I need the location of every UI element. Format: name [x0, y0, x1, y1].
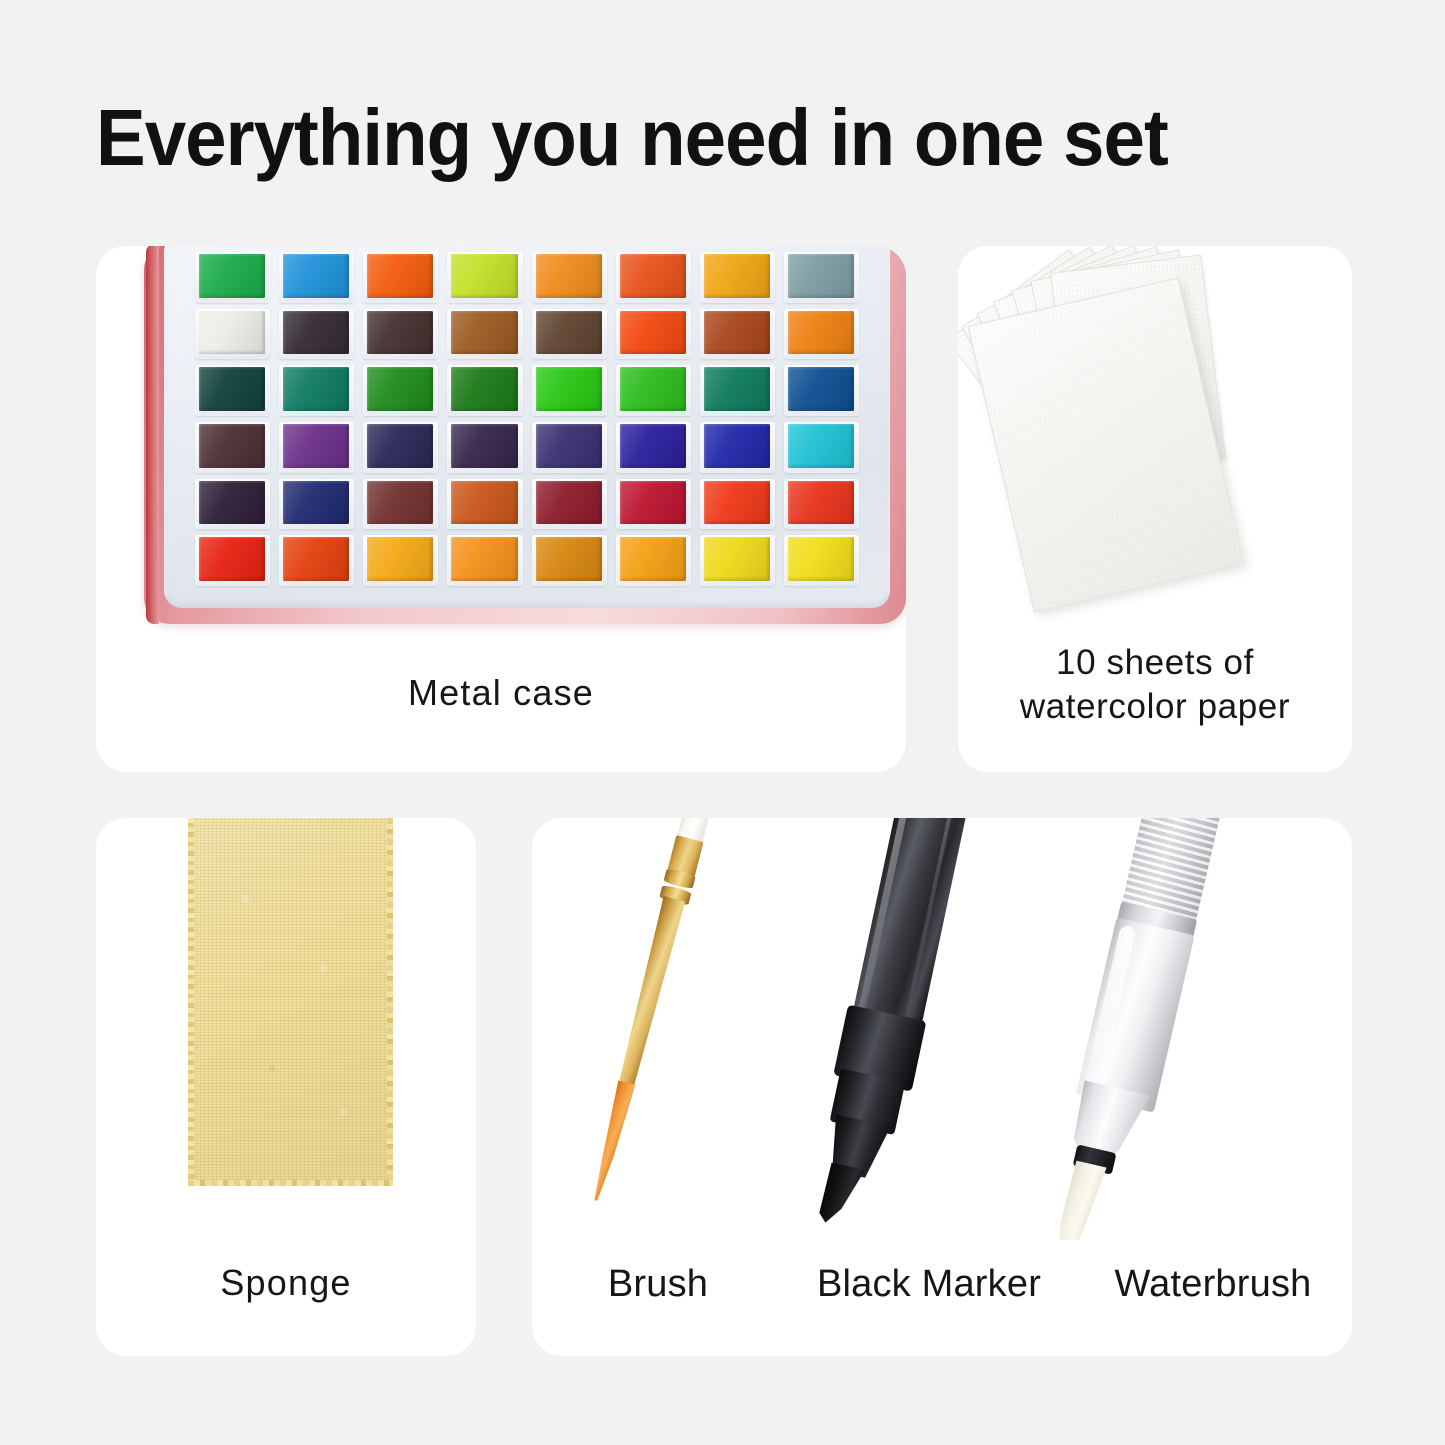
paint-pan: [363, 422, 438, 473]
paint-pan-color: [283, 254, 349, 298]
paint-pan: [279, 479, 354, 530]
paint-pan: [700, 422, 775, 473]
paint-pan: [279, 252, 354, 303]
paint-pan: [700, 252, 775, 303]
sponge-bottom-edge: [188, 1180, 393, 1186]
paint-pan: [363, 252, 438, 303]
marker-tip: [814, 1161, 866, 1228]
paint-pan-color: [620, 367, 686, 411]
paint-pan-color: [788, 367, 854, 411]
paint-pan-color: [788, 311, 854, 355]
paint-pan: [195, 365, 270, 416]
sponge-left-edge: [188, 818, 194, 1186]
brush-image: [574, 818, 724, 1208]
paint-pan-color: [788, 481, 854, 525]
paint-pan-color: [788, 254, 854, 298]
paint-pan-color: [536, 537, 602, 581]
paint-pan-color: [704, 367, 770, 411]
paint-pan-color: [283, 311, 349, 355]
paint-pan: [784, 422, 859, 473]
paint-pan-color: [367, 424, 433, 468]
paint-pan-color: [367, 481, 433, 525]
paint-pan: [279, 422, 354, 473]
paint-pan: [616, 365, 691, 416]
paint-pan-color: [620, 424, 686, 468]
card-label-line-1: 10 sheets of: [958, 641, 1352, 684]
paint-pan: [279, 365, 354, 416]
card-tools[interactable]: PEN Brush Black Mark: [532, 818, 1352, 1356]
paint-pan-color: [704, 254, 770, 298]
tin-paint-tray: [164, 246, 890, 608]
paint-pan: [532, 309, 607, 360]
tool-label-black-marker: Black Marker: [784, 1263, 1074, 1306]
paint-pan: [784, 365, 859, 416]
tool-label-brush: Brush: [532, 1263, 784, 1306]
paint-pan: [195, 309, 270, 360]
black-marker-image: PEN: [788, 818, 991, 1236]
paint-pan: [195, 535, 270, 586]
product-card-grid: Metal case 10 sheets of watercolor paper…: [96, 246, 1352, 1356]
paint-pan-color: [451, 481, 517, 525]
marker-body: PEN: [851, 818, 971, 1034]
paint-pan: [700, 309, 775, 360]
brush-handle: [614, 896, 686, 1090]
paint-pan-color: [620, 254, 686, 298]
tin-left-lip: [146, 246, 159, 624]
paint-pan: [784, 479, 859, 530]
paint-pan-color: [199, 424, 265, 468]
paint-pan-color: [451, 254, 517, 298]
paint-pan-color: [704, 481, 770, 525]
paint-pan-color: [620, 537, 686, 581]
sponge-texture: [188, 818, 393, 1186]
paint-pan-color: [788, 424, 854, 468]
tool-label-waterbrush: Waterbrush: [1074, 1263, 1352, 1306]
paint-pan-color: [536, 481, 602, 525]
waterbrush-image: [1028, 818, 1246, 1238]
paint-pan-color: [199, 311, 265, 355]
paint-pan-color: [199, 367, 265, 411]
brush-bristle-tip: [587, 1080, 637, 1203]
paint-pan: [195, 479, 270, 530]
paint-pan-color: [451, 537, 517, 581]
paint-pan-color: [536, 424, 602, 468]
paint-pan-color: [367, 254, 433, 298]
paint-pan-color: [451, 311, 517, 355]
paint-pan-color: [536, 311, 602, 355]
tools-image: PEN: [532, 818, 1352, 1240]
card-sponge[interactable]: Sponge: [96, 818, 476, 1356]
paint-pan: [532, 422, 607, 473]
paint-pan-color: [704, 537, 770, 581]
paint-pan: [279, 309, 354, 360]
watercolor-tin-image: [144, 246, 906, 630]
paint-pan: [616, 479, 691, 530]
card-metal-case[interactable]: Metal case: [96, 246, 906, 772]
paint-pan: [195, 422, 270, 473]
paint-pan: [363, 535, 438, 586]
paint-pan-color: [283, 481, 349, 525]
paint-pan-color: [367, 537, 433, 581]
paint-pan: [532, 535, 607, 586]
paint-pan: [616, 252, 691, 303]
tool-label-row: Brush Black Marker Waterbrush: [532, 1263, 1352, 1306]
paint-pan-color: [704, 311, 770, 355]
paint-pan: [532, 479, 607, 530]
paint-pan: [447, 479, 522, 530]
paint-pan-color: [788, 537, 854, 581]
paint-pan: [616, 535, 691, 586]
paint-pan-color: [283, 537, 349, 581]
paint-pan-color: [536, 367, 602, 411]
paint-pan: [700, 365, 775, 416]
paint-pan: [784, 535, 859, 586]
paint-pan: [363, 365, 438, 416]
paint-pan-color: [367, 367, 433, 411]
paint-pan-color: [199, 537, 265, 581]
paint-pan: [363, 309, 438, 360]
paint-pan-color: [199, 481, 265, 525]
paint-pan: [700, 479, 775, 530]
paint-pan: [784, 252, 859, 303]
paper-stack-image: [958, 246, 1352, 646]
paint-pan-color: [536, 254, 602, 298]
paint-pan-color: [199, 254, 265, 298]
paint-pan-color: [451, 424, 517, 468]
card-label-line-2: watercolor paper: [958, 685, 1352, 728]
paint-pan: [532, 252, 607, 303]
paint-pan: [447, 365, 522, 416]
paint-pan: [447, 252, 522, 303]
paint-pan-color: [283, 367, 349, 411]
paint-pan: [532, 365, 607, 416]
paint-pan: [447, 309, 522, 360]
paint-pan: [363, 479, 438, 530]
paint-pan: [447, 422, 522, 473]
sponge-image: [188, 818, 393, 1186]
paint-pan: [784, 309, 859, 360]
paint-pan: [616, 422, 691, 473]
paint-pan-grid: [195, 252, 859, 586]
page-title: Everything you need in one set: [96, 98, 1168, 178]
paint-pan: [279, 535, 354, 586]
waterbrush-bristle-tip: [1047, 1160, 1108, 1240]
paint-pan: [616, 309, 691, 360]
paint-pan-color: [367, 311, 433, 355]
card-label-metal-case: Metal case: [96, 671, 906, 716]
card-watercolor-paper[interactable]: 10 sheets of watercolor paper: [958, 246, 1352, 772]
paint-pan-color: [620, 481, 686, 525]
card-label-watercolor-paper: 10 sheets of watercolor paper: [958, 641, 1352, 728]
paint-pan: [195, 252, 270, 303]
paint-pan-color: [620, 311, 686, 355]
paint-pan-color: [283, 424, 349, 468]
paint-pan-color: [451, 367, 517, 411]
card-label-sponge: Sponge: [96, 1261, 476, 1306]
paint-pan: [700, 535, 775, 586]
paint-pan-color: [704, 424, 770, 468]
sponge-right-edge: [387, 818, 393, 1186]
paint-pan: [447, 535, 522, 586]
